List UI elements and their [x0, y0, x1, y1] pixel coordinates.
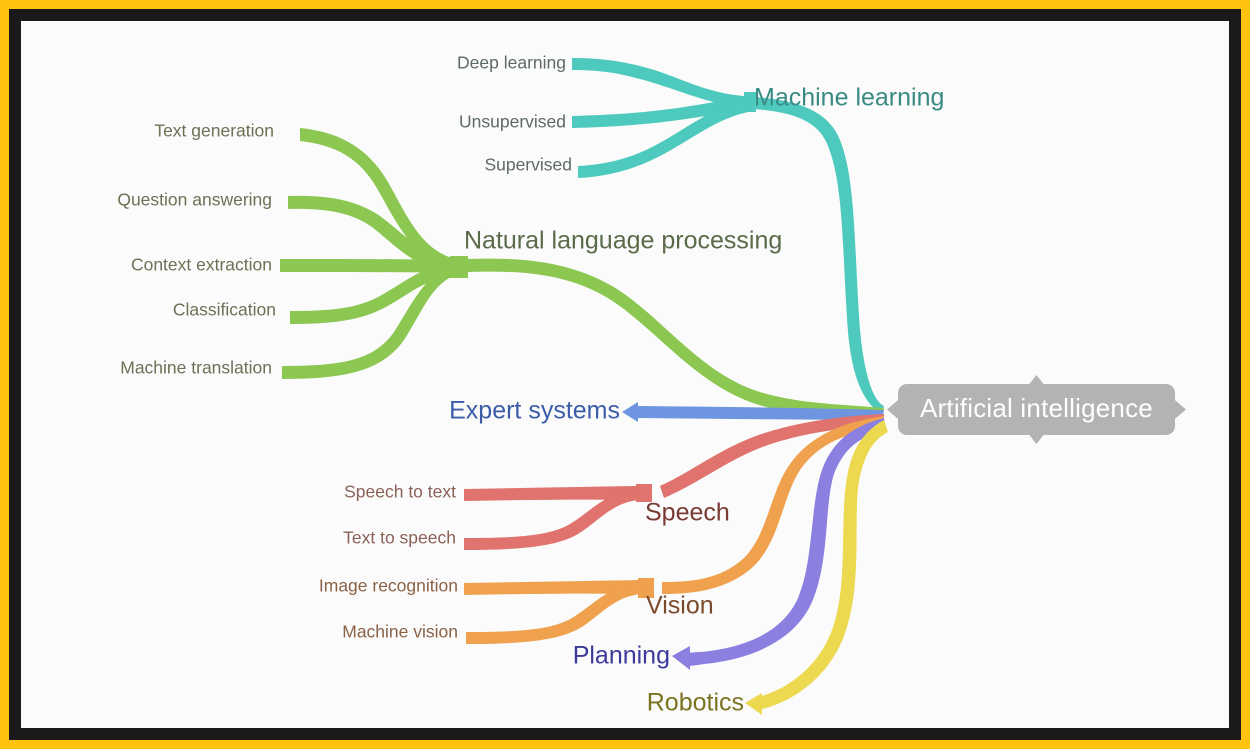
branch-label-machine-learning[interactable]: Machine learning	[754, 86, 944, 111]
sub-label-context-extraction[interactable]: Context extraction	[131, 256, 272, 274]
branch-label-planning[interactable]: Planning	[573, 644, 670, 669]
branch-label-expert-systems[interactable]: Expert systems	[449, 399, 620, 424]
branch-label-speech[interactable]: Speech	[645, 501, 730, 526]
sub-label-classification[interactable]: Classification	[173, 301, 276, 319]
sub-label-text-generation[interactable]: Text generation	[154, 122, 274, 140]
sub-label-image-recognition[interactable]: Image recognition	[319, 577, 458, 595]
planning-arrow	[672, 646, 690, 670]
robotics-trunk	[758, 420, 888, 710]
sub-label-speech-to-text[interactable]: Speech to text	[344, 483, 456, 501]
root-node-label: Artificial intelligence	[920, 393, 1153, 423]
branch-label-vision[interactable]: Vision	[646, 594, 714, 619]
es-arrow	[622, 402, 638, 422]
sub-label-supervised[interactable]: Supervised	[484, 156, 572, 174]
ml-child-deep-learning	[572, 58, 744, 108]
ml-trunk	[754, 97, 884, 414]
branch-label-natural-language-processing[interactable]: Natural language processing	[464, 229, 782, 254]
robotics-arrow	[745, 693, 762, 715]
sub-label-text-to-speech[interactable]: Text to speech	[343, 529, 456, 547]
sub-label-machine-vision[interactable]: Machine vision	[342, 623, 458, 641]
branch-label-robotics[interactable]: Robotics	[647, 691, 744, 716]
mindmap-stage: Artificial intelligence Machine learning…	[21, 21, 1229, 728]
sub-label-machine-translation[interactable]: Machine translation	[120, 359, 272, 377]
image-frame: Artificial intelligence Machine learning…	[9, 9, 1241, 740]
nlp-trunk	[466, 259, 884, 418]
root-node[interactable]: Artificial intelligence	[898, 384, 1175, 435]
sub-label-unsupervised[interactable]: Unsupervised	[459, 113, 566, 131]
sub-label-deep-learning[interactable]: Deep learning	[457, 54, 566, 72]
diagram-canvas: Artificial intelligence Machine learning…	[21, 21, 1229, 728]
sub-label-question-answering[interactable]: Question answering	[117, 191, 272, 209]
